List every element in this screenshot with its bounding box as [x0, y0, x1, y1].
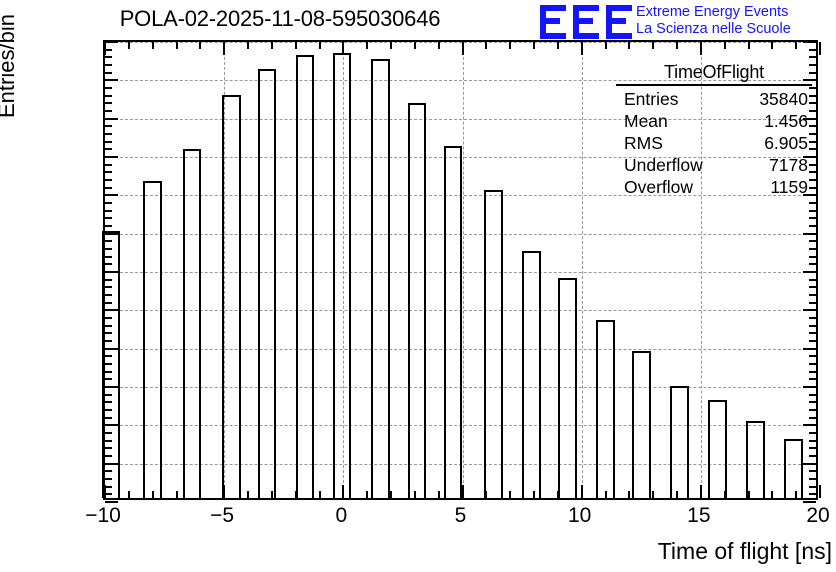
histogram-bar — [708, 400, 727, 498]
stats-row-key: Overflow — [624, 176, 693, 198]
stats-row-value: 6.905 — [764, 132, 808, 154]
y-tick-left — [105, 501, 118, 503]
stats-rows: Entries35840Mean1.456RMS6.905Underflow71… — [610, 88, 818, 198]
histogram-bar — [258, 69, 277, 498]
histogram-bar — [102, 231, 121, 498]
histogram-bar — [183, 149, 202, 498]
histogram-bar — [296, 55, 315, 498]
histogram-bar — [222, 95, 241, 498]
stats-row-key: Mean — [624, 110, 668, 132]
histogram-bar — [632, 351, 651, 498]
stats-row-key: Underflow — [624, 154, 703, 176]
stats-box: TimeOfFlight Entries35840Mean1.456RMS6.9… — [610, 59, 818, 200]
histogram-bar — [371, 59, 390, 498]
histogram-bar — [558, 278, 577, 498]
stats-row: Mean1.456 — [610, 110, 818, 132]
stats-row-value: 7178 — [769, 154, 808, 176]
x-tick-label: 10 — [540, 504, 620, 528]
histogram-bar — [670, 386, 689, 498]
stats-row-key: Entries — [624, 88, 678, 110]
y-tick-right — [803, 501, 816, 503]
stats-row: RMS6.905 — [610, 132, 818, 154]
stats-row: Underflow7178 — [610, 154, 818, 176]
histogram-bar — [522, 251, 541, 498]
stats-row-value: 1159 — [770, 176, 808, 198]
x-tick-top — [819, 42, 821, 55]
stats-divider — [616, 84, 812, 86]
histogram-bar — [746, 421, 765, 498]
histogram-bar — [143, 181, 162, 498]
histogram-bar — [408, 103, 427, 498]
histogram-bar — [333, 53, 352, 498]
x-tick-label: −5 — [182, 504, 262, 528]
x-tick-label: 0 — [301, 504, 381, 528]
x-tick-label: 20 — [778, 504, 836, 528]
x-tick-bottom — [819, 485, 821, 498]
stats-title: TimeOfFlight — [610, 59, 818, 84]
stats-row: Overflow1159 — [610, 176, 818, 198]
stats-row-key: RMS — [624, 132, 663, 154]
x-tick-label: 15 — [659, 504, 739, 528]
stats-row-value: 35840 — [759, 88, 808, 110]
root-canvas: POLA-02-2025-11-08-595030646 Extreme Ene… — [0, 0, 836, 572]
histogram-bar — [784, 439, 803, 498]
stats-row-value: 1.456 — [764, 110, 808, 132]
x-tick-label: 5 — [421, 504, 501, 528]
histogram-bar — [596, 320, 615, 498]
histogram-bar — [444, 146, 463, 498]
stats-row: Entries35840 — [610, 88, 818, 110]
x-tick-label: −10 — [63, 504, 143, 528]
histogram-bar — [484, 190, 503, 498]
